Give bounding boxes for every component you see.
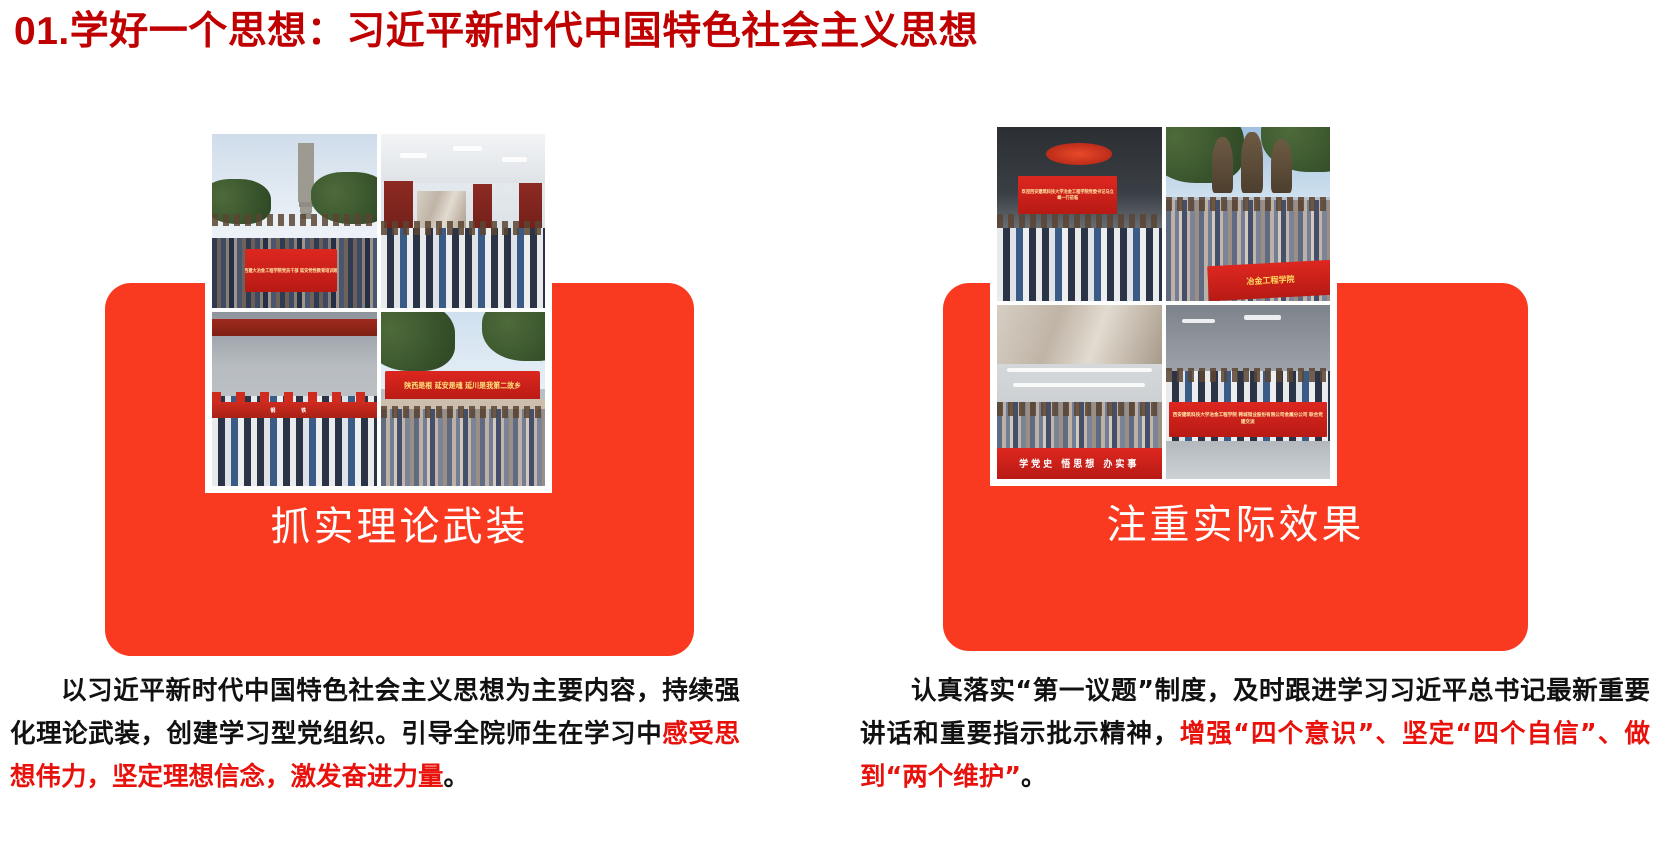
photo-banner-text: 西建大冶金工程学院党员干部 延安党性教育培训班: [245, 267, 337, 273]
photo-banner-right-4: 西安建筑科技大学冶金工程学院 韩城钼业股份有限公司金属分公司 联合党建交流: [1169, 402, 1327, 437]
ceiling-light-icon: [1007, 368, 1152, 372]
photo-banner-text: 学党史 悟思想 办实事: [1019, 457, 1139, 471]
photo-collage-right: 欢迎西安建筑科技大学冶金工程学院党委书记马立峰一行莅临 冶金工程学院: [990, 120, 1337, 486]
heads-row: [997, 402, 1162, 416]
photo-banner-left-1: 西建大冶金工程学院党员干部 延安党性教育培训班: [245, 249, 337, 293]
photo-banner-left-3: 钢 铁: [212, 402, 377, 418]
photo-right-3[interactable]: 学党史 悟思想 办实事: [997, 305, 1162, 479]
card-label-left: 抓实理论武装: [105, 494, 694, 552]
tree-cluster-icon: [381, 312, 455, 371]
statue-icon: [1271, 139, 1292, 193]
heads-row: [381, 406, 546, 418]
photo-left-2[interactable]: [381, 134, 546, 308]
statue-icon: [1241, 132, 1262, 193]
photo-right-4[interactable]: 西安建筑科技大学冶金工程学院 韩城钼业股份有限公司金属分公司 联合党建交流: [1166, 305, 1331, 479]
ceiling-light-icon: [502, 157, 527, 162]
ceiling-light-icon: [453, 146, 483, 151]
photo-left-3[interactable]: 钢 铁: [212, 312, 377, 486]
ceiling-light-icon: [1244, 315, 1280, 319]
plant-banner-strip: [212, 319, 377, 336]
paragraph-right: 认真落实“第一议题”制度，及时跟进学习习近平总书记最新重要讲话和重要指示批示精神…: [860, 670, 1650, 799]
photo-left-1[interactable]: 西建大冶金工程学院党员干部 延安党性教育培训班: [212, 134, 377, 308]
floor-region: [1166, 441, 1331, 479]
heads-row: [1166, 368, 1331, 382]
ceiling-light-icon: [1013, 383, 1145, 386]
crowd-region: [381, 409, 546, 486]
hardhat-row: [212, 392, 377, 402]
ceiling-light-icon: [1182, 319, 1215, 323]
heads-row: [381, 221, 546, 235]
paragraph-left-run-1: 以习近平新时代中国特色社会主义思想为主要内容，持续强化理论武装，创建学习型党组织…: [10, 676, 740, 749]
photo-right-1[interactable]: 欢迎西安建筑科技大学冶金工程学院党委书记马立峰一行莅临: [997, 127, 1162, 301]
photo-banner-text: 西安建筑科技大学冶金工程学院 韩城钼业股份有限公司金属分公司 联合党建交流: [1169, 412, 1327, 427]
paragraph-right-run-3: 。: [1021, 762, 1047, 792]
photo-banner-text: 冶金工程学院: [1246, 273, 1295, 287]
paragraph-left: 以习近平新时代中国特色社会主义思想为主要内容，持续强化理论武装，创建学习型党组织…: [10, 670, 740, 799]
photo-banner-right-3: 学党史 悟思想 办实事: [997, 448, 1162, 479]
wall-emblem-icon: [1046, 143, 1112, 166]
photo-banner-text: 陕西是根 延安是魂 延川是我第二故乡: [404, 381, 521, 392]
content-panel-left: 抓实理论武装 西建大冶金工程学院党员干部 延安党性教育培训班: [0, 0, 800, 860]
photo-right-2[interactable]: 冶金工程学院: [1166, 127, 1331, 301]
heads-row: [212, 214, 377, 226]
photo-banner-text: 欢迎西安建筑科技大学冶金工程学院党委书记马立峰一行莅临: [1018, 188, 1117, 201]
content-panel-right: 注重实际效果 欢迎西安建筑科技大学冶金工程学院党委书记马立峰一行莅临: [800, 0, 1662, 860]
photo-banner-text: 钢 铁: [270, 407, 318, 414]
heads-row: [1166, 197, 1331, 211]
crowd-region: [997, 228, 1162, 301]
heads-row: [997, 214, 1162, 228]
paragraph-left-run-3: 。: [444, 762, 470, 792]
photo-collage-left: 西建大冶金工程学院党员干部 延安党性教育培训班 钢: [205, 127, 552, 493]
ceiling-light-icon: [400, 153, 426, 158]
photo-banner-right-1: 欢迎西安建筑科技大学冶金工程学院党委书记马立峰一行莅临: [1018, 176, 1117, 214]
ceiling-mural: [997, 305, 1162, 364]
crowd-region: [381, 228, 546, 308]
card-label-right: 注重实际效果: [943, 492, 1528, 550]
photo-banner-right-2: 冶金工程学院: [1207, 259, 1330, 300]
statue-icon: [1212, 137, 1233, 193]
photo-left-4[interactable]: 陕西是根 延安是魂 延川是我第二故乡: [381, 312, 546, 486]
photo-banner-left-4: 陕西是根 延安是魂 延川是我第二故乡: [385, 371, 540, 401]
